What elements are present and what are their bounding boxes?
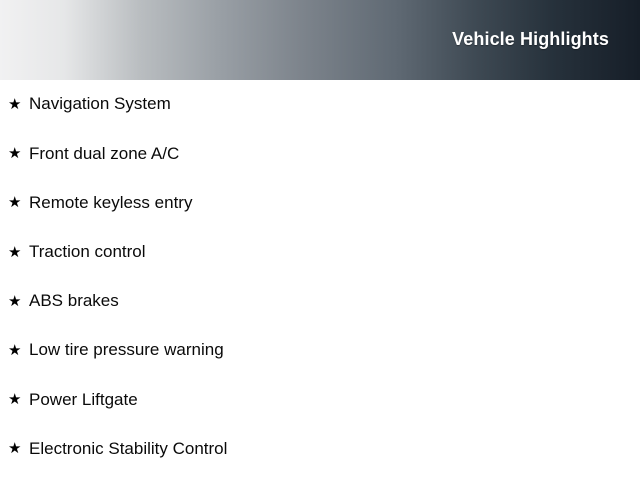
star-icon: ★ (8, 245, 29, 260)
list-item: ★ Power Liftgate (0, 375, 640, 424)
list-item: ★ Navigation System (0, 80, 640, 129)
star-icon: ★ (8, 294, 29, 309)
list-item: ★ Low tire pressure warning (0, 326, 640, 375)
star-icon: ★ (8, 146, 29, 161)
list-item-label: Electronic Stability Control (29, 439, 640, 459)
header-banner: Vehicle Highlights (0, 0, 640, 80)
vehicle-highlights-page: Vehicle Highlights ★ Navigation System ★… (0, 0, 640, 480)
list-item-label: Low tire pressure warning (29, 340, 640, 360)
page-title: Vehicle Highlights (452, 29, 609, 50)
list-item: ★ ABS brakes (0, 277, 640, 326)
list-item: ★ Front dual zone A/C (0, 129, 640, 178)
star-icon: ★ (8, 343, 29, 358)
list-item-label: Front dual zone A/C (29, 144, 640, 164)
list-item-label: Power Liftgate (29, 390, 640, 410)
list-item-label: Navigation System (29, 94, 640, 114)
list-item: ★ Remote keyless entry (0, 178, 640, 227)
star-icon: ★ (8, 441, 29, 456)
list-item-label: Remote keyless entry (29, 193, 640, 213)
star-icon: ★ (8, 392, 29, 407)
list-item: ★ Traction control (0, 228, 640, 277)
list-item-label: Traction control (29, 242, 640, 262)
star-icon: ★ (8, 195, 29, 210)
vehicle-highlights-list: ★ Navigation System ★ Front dual zone A/… (0, 80, 640, 474)
list-item-label: ABS brakes (29, 291, 640, 311)
star-icon: ★ (8, 97, 29, 112)
list-item: ★ Electronic Stability Control (0, 424, 640, 473)
